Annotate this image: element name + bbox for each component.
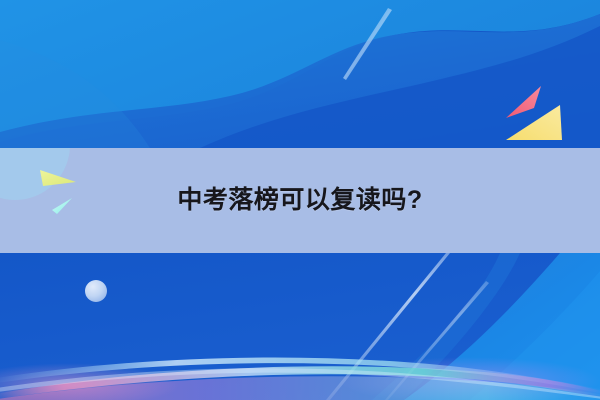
pink-triangle-icon: [506, 86, 541, 118]
glowing-bubble-icon: [85, 280, 107, 302]
caption-title: 中考落榜可以复读吗?: [0, 148, 600, 253]
caption-band: 中考落榜可以复读吗?: [0, 148, 600, 253]
triangle-accents-group: [498, 78, 598, 148]
bottom-decorative-region: [0, 253, 600, 400]
yellow-triangle-icon: [506, 105, 562, 140]
bottom-graphic: [0, 253, 600, 400]
banner-image: 中考落榜可以复读吗?: [0, 0, 600, 400]
top-decorative-region: [0, 0, 600, 148]
